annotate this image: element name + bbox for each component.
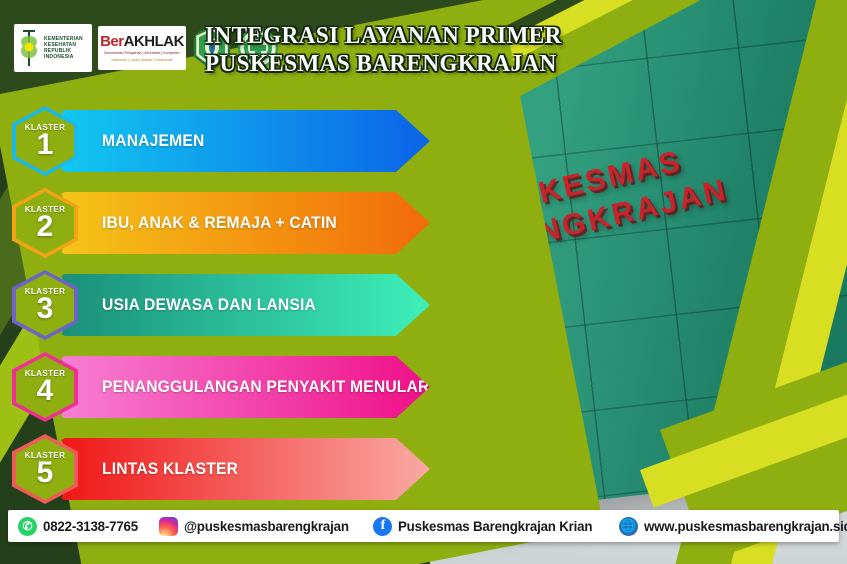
cluster-row-1[interactable]: MANAJEMEN KLASTER 1 [0, 104, 440, 186]
cluster-badge-number-2: 2 [37, 212, 54, 242]
contact-instagram[interactable]: ▢ @puskesmasbarengkrajan [159, 517, 357, 536]
cluster-title-4: PENANGGULANGAN PENYAKIT MENULAR [102, 377, 430, 397]
berakhlak-wordmark: BerAKHLAK [100, 34, 184, 49]
cluster-badge-number-1: 1 [37, 130, 54, 160]
website-url: www.puskesmasbarengkrajan.sidoarjokab.go… [644, 518, 847, 534]
poster-canvas: PUSKESMAS BARENGKRAJAN [0, 0, 847, 564]
cluster-bar-2[interactable]: IBU, ANAK & REMAJA + CATIN [60, 192, 430, 254]
contact-footer: ✆ 0822-3138-7765 ▢ @puskesmasbarengkraja… [8, 510, 839, 542]
cluster-title-1: MANAJEMEN [102, 131, 204, 151]
kemenkes-text: KEMENTERIAN KESEHATAN REPUBLIK INDONESIA [44, 36, 83, 61]
berakhlak-sub1: Berorientasi Pelayanan | Akuntabel | Kom… [104, 51, 179, 56]
cluster-badge-3[interactable]: KLASTER 3 [12, 270, 78, 340]
cluster-badge-number-5: 5 [37, 458, 54, 488]
page-title: INTEGRASI LAYANAN PRIMER PUSKESMAS BAREN… [205, 22, 577, 79]
berakhlak-logo: BerAKHLAK Berorientasi Pelayanan | Akunt… [98, 22, 186, 74]
berakhlak-akhlak: AKHLAK [124, 33, 184, 50]
instagram-handle: @puskesmasbarengkrajan [184, 518, 349, 534]
contact-website[interactable]: 🌐 www.puskesmasbarengkrajan.sidoarjokab.… [619, 517, 847, 536]
title-line-1: INTEGRASI LAYANAN PRIMER [205, 22, 562, 50]
berakhlak-ber: Ber [100, 33, 124, 50]
cluster-row-3[interactable]: USIA DEWASA DAN LANSIA KLASTER 3 [0, 268, 440, 350]
berakhlak-sub2: Harmonis | Loyal | Adaptif | Kolaboratif [112, 58, 173, 63]
contact-facebook[interactable]: f Puskesmas Barengkrajan Krian [373, 517, 603, 536]
cluster-row-4[interactable]: PENANGGULANGAN PENYAKIT MENULAR KLASTER … [0, 350, 440, 432]
cluster-title-5: LINTAS KLASTER [102, 459, 238, 479]
cluster-title-3: USIA DEWASA DAN LANSIA [102, 295, 316, 315]
cluster-badge-1[interactable]: KLASTER 1 [12, 106, 78, 176]
cluster-badge-2[interactable]: KLASTER 2 [12, 188, 78, 258]
cluster-badge-number-4: 4 [37, 376, 54, 406]
cluster-bar-5[interactable]: LINTAS KLASTER [60, 438, 430, 500]
cluster-badge-4[interactable]: KLASTER 4 [12, 352, 78, 422]
cluster-badge-number-3: 3 [37, 294, 54, 324]
kemenkes-mark-icon [17, 28, 41, 68]
instagram-icon: ▢ [159, 517, 178, 536]
cluster-list: MANAJEMEN KLASTER 1 IBU, ANAK & REMAJA +… [0, 104, 440, 514]
globe-icon: 🌐 [619, 517, 638, 536]
facebook-page: Puskesmas Barengkrajan Krian [398, 518, 592, 534]
cluster-badge-5[interactable]: KLASTER 5 [12, 434, 78, 504]
kemenkes-logo: KEMENTERIAN KESEHATAN REPUBLIK INDONESIA [14, 22, 92, 74]
cluster-row-5[interactable]: LINTAS KLASTER KLASTER 5 [0, 432, 440, 514]
facebook-icon: f [373, 517, 392, 536]
title-line-2: PUSKESMAS BARENGKRAJAN [205, 50, 562, 78]
header: KEMENTERIAN KESEHATAN REPUBLIK INDONESIA… [0, 0, 560, 100]
cluster-bar-3[interactable]: USIA DEWASA DAN LANSIA [60, 274, 430, 336]
cluster-bar-1[interactable]: MANAJEMEN [60, 110, 430, 172]
cluster-bar-4[interactable]: PENANGGULANGAN PENYAKIT MENULAR [60, 356, 430, 418]
cluster-row-2[interactable]: IBU, ANAK & REMAJA + CATIN KLASTER 2 [0, 186, 440, 268]
cluster-title-2: IBU, ANAK & REMAJA + CATIN [102, 213, 337, 233]
